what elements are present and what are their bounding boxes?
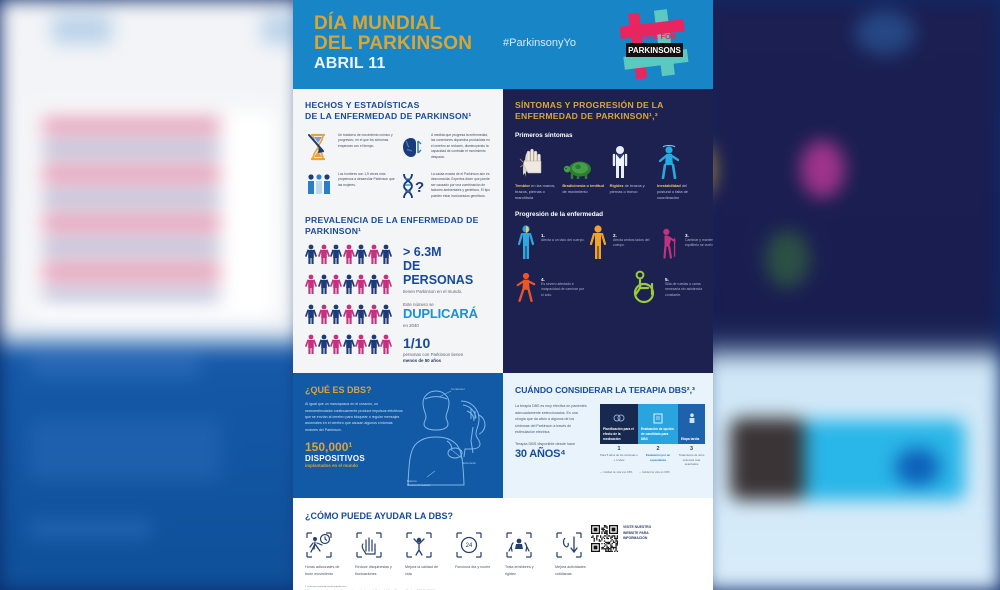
campaign-hashtag: #ParkinsonyYo (503, 37, 576, 49)
symptoms-section: SÍNTOMAS Y PROGRESIÓN DE LA ENFERMEDAD D… (503, 89, 713, 314)
person-pictogram (343, 304, 355, 324)
funnel-block-3: Etapa tardía (678, 404, 705, 444)
funnel-legend: — Calidad de vida tras DBS -- Calidad de… (600, 471, 705, 474)
stage-figure-4 (515, 268, 537, 304)
benefit-item: Horas adicionales de buen movimiento (305, 531, 345, 576)
bg-device-dot (895, 448, 940, 486)
prevalence-stats: > 6.3M DE PERSONAS tienen Parkinson en e… (403, 244, 491, 363)
benefit-label: Trata temblores y rigidez (505, 564, 545, 576)
funnel-step-3: 3 Tratamiento de otros síntomas más avan… (678, 446, 705, 466)
symptom-label: Rigidez de brazos y piernas o tronco (610, 183, 654, 195)
unstable-person-icon (657, 145, 701, 179)
clipboard-icon (653, 413, 663, 425)
title-line-1: DÍA MUNDIAL (314, 14, 472, 34)
dbs-illustration: Conductor Extensión Batería Neuroestimul… (387, 387, 499, 492)
people-icon (305, 170, 333, 202)
bg-chip (52, 14, 112, 44)
hourglass-icon (305, 131, 333, 163)
stage-figure-3 (659, 224, 681, 260)
facts-section: HECHOS Y ESTADÍSTICAS DE LA ENFERMEDAD D… (293, 89, 503, 213)
dna-icon: ? (398, 170, 426, 202)
person-pictogram (343, 274, 355, 294)
fact-text: A medida que progresa la enfermedad, las… (431, 131, 491, 163)
stat-double-value: DUPLICARÁ (403, 307, 491, 321)
early-symptoms-row: Temblor en las manos, brazos, piernas o … (515, 145, 701, 201)
fact-item: Un trastorno de movimiento crónico y pro… (305, 131, 398, 163)
content-band-dbs: ¿QUÉ ES DBS? Al igual que un marcapasos … (293, 373, 713, 498)
dbs-therapy-section: CUÁNDO CONSIDERAR LA TERAPIA DBS²,³ La t… (503, 373, 713, 498)
benefits-heading: ¿CÓMO PUEDE AYUDAR LA DBS? (305, 511, 701, 521)
person-pictogram (355, 304, 367, 324)
fact-text: Los hombres son 1,5 veces más propensos … (338, 170, 398, 202)
bg-bar-2 (30, 420, 220, 480)
legend-item-1: — Calidad de vida tras DBS (600, 471, 632, 474)
svg-text:Extensión: Extensión (463, 461, 477, 465)
bg-device-dark (730, 418, 805, 500)
person-pictogram (305, 244, 317, 264)
progression-title: Progresión de la enfermedad (515, 211, 701, 218)
infographic-poster: DÍA MUNDIAL DEL PARKINSON ABRIL 11 #Park… (293, 0, 713, 590)
symptoms-heading: SÍNTOMAS Y PROGRESIÓN DE LA ENFERMEDAD D… (515, 100, 701, 122)
title-line-2: DEL PARKINSON (314, 34, 472, 54)
symptom-label: Inestabilidad del postural o falta de co… (657, 183, 701, 201)
bg-blob-blue (855, 10, 915, 55)
stage-text: 2. Afecta ambos lados del cuerpo. (613, 224, 659, 260)
qr-code-icon[interactable] (591, 525, 618, 552)
stiff-person-icon (610, 145, 654, 179)
stat-double-note: en 2040 (403, 322, 491, 329)
progression-row-1: 1. Afecta a un lado del cuerpo. (515, 224, 701, 260)
clock-24-icon: 24 (455, 531, 483, 559)
symptom-label: Bradicinesia o lentitud de movimiento (562, 183, 606, 195)
person-pictogram (318, 244, 330, 264)
stat-ratio-value: 1/10 (403, 336, 491, 351)
person-pictogram (380, 244, 392, 264)
prevalence-heading: PREVALENCIA DE LA ENFERMEDAD DE PARKINSO… (305, 215, 491, 237)
bg-bar-3 (30, 520, 150, 538)
prevalence-pictogram-grid (305, 244, 393, 363)
arrow-down-icon (555, 531, 583, 559)
person-pictogram (380, 274, 392, 294)
person-pictogram (318, 334, 330, 354)
facts-column: HECHOS Y ESTADÍSTICAS DE LA ENFERMEDAD D… (293, 89, 503, 373)
hand-icon (355, 531, 383, 559)
benefits-section: ¿CÓMO PUEDE AYUDAR LA DBS? Horas adicion… (293, 498, 713, 590)
footnotes: 1. parkinson.org/understanding-parkinson… (305, 585, 478, 590)
pill-icon (613, 413, 625, 424)
person-pictogram (368, 334, 380, 354)
content-band-top: HECHOS Y ESTADÍSTICAS DE LA ENFERMEDAD D… (293, 89, 713, 373)
benefit-label: Mejora la calidad de vida (405, 564, 445, 576)
stage-text: 1. Afecta a un lado del cuerpo. (541, 224, 587, 260)
walking-clock-icon (305, 531, 333, 559)
stage-text: 4. Es severo afectado e incapacidad de c… (541, 268, 587, 304)
stage-item: 3. Caminar y mantener el equilibrio se v… (659, 224, 713, 260)
funnel-blocks: Planificación para el efecto de la medic… (600, 404, 705, 444)
person-pictogram (343, 244, 355, 264)
legend-item-2: -- Calidad de vida sin DBS (639, 471, 669, 474)
person-pictogram (355, 274, 367, 294)
benefit-label: Horas adicionales de buen movimiento (305, 564, 345, 576)
badge-top-text: #UNITE FOR (632, 32, 677, 41)
therapy-funnel: Planificación para el efecto de la medic… (600, 404, 705, 474)
stat-people-count: > 6.3M (403, 245, 491, 259)
turtle-icon (562, 145, 606, 179)
stage-item: 2. Afecta ambos lados del cuerpo. (587, 224, 659, 260)
symptom-item: Bradicinesia o lentitud de movimiento (562, 145, 606, 201)
svg-text:Neuroestimulador: Neuroestimulador (407, 483, 431, 487)
benefit-item: Mejora actividades cotidianas (555, 531, 595, 576)
person-pictogram (368, 304, 380, 324)
hands-care-icon (505, 531, 533, 559)
person-pictogram (305, 274, 317, 294)
stat-people-label: DE PERSONAS (403, 259, 491, 287)
stage-text: 5. Silla de ruedas o cama necesaria sin … (665, 268, 711, 304)
unite-for-parkinsons-badge: #UNITE FOR PARKINSONS (618, 9, 690, 79)
symptom-item: Rigidez de brazos y piernas o tronco (610, 145, 654, 201)
what-is-dbs-section: ¿QUÉ ES DBS? Al igual que un marcapasos … (293, 373, 503, 498)
background-left-panel (0, 0, 300, 590)
bg-grid (42, 118, 220, 300)
arms-up-person-icon (405, 531, 433, 559)
benefit-item: Trata temblores y rigidez (505, 531, 545, 576)
person-icon (688, 413, 696, 424)
person-pictogram (305, 304, 317, 324)
svg-text:Conductor: Conductor (451, 387, 465, 391)
person-pictogram (368, 244, 380, 264)
qr-block[interactable]: VISITE NUESTRO WEBSITE PARA INFORMACIÓN (591, 525, 661, 552)
stat-ratio-note: personas con Parkinson tienen (403, 351, 491, 358)
background-right-panel (705, 0, 1000, 590)
facts-grid: Un trastorno de movimiento crónico y pro… (305, 131, 491, 209)
person-pictogram (330, 304, 342, 324)
fact-item: A medida que progresa la enfermedad, las… (398, 131, 491, 163)
poster-header: DÍA MUNDIAL DEL PARKINSON ABRIL 11 #Park… (293, 0, 713, 89)
stat-people-note: tienen Parkinson en el mundo. (403, 288, 491, 295)
trembling-hand-icon (515, 145, 559, 179)
funnel-block-1: Planificación para el efecto de la medic… (600, 404, 638, 444)
funnel-step-2: 2 Evaluación por un especialista (638, 446, 678, 466)
funnel-numbers: 1 Para 5 años de los síntomas o + 4 años… (600, 446, 705, 466)
fact-item: Los hombres son 1,5 veces más propensos … (305, 170, 398, 202)
svg-text:?: ? (415, 179, 424, 196)
prevalence-body: > 6.3M DE PERSONAS tienen Parkinson en e… (305, 244, 491, 363)
symptom-item: Temblor en las manos, brazos, piernas o … (515, 145, 559, 201)
person-pictogram (343, 334, 355, 354)
benefit-label: Mejora actividades cotidianas (555, 564, 595, 576)
bg-blob-pink (800, 140, 845, 198)
benefit-item: Mejora la calidad de vida (405, 531, 445, 576)
therapy-heading: CUÁNDO CONSIDERAR LA TERAPIA DBS²,³ (515, 385, 701, 395)
stage-figure-5 (629, 268, 661, 304)
benefit-label: Funciona día y noche (455, 564, 495, 570)
benefit-item: 24 Funciona día y noche (455, 531, 495, 576)
badge-bottom-text: PARKINSONS (628, 46, 681, 55)
therapy-paragraph: La terapia DBS es muy efectiva en pacien… (515, 403, 587, 435)
benefit-item: Reduce disquinesias y fluctuaciones (355, 531, 395, 576)
symptoms-column: SÍNTOMAS Y PROGRESIÓN DE LA ENFERMEDAD D… (503, 89, 713, 373)
fact-text: La causa exacta de el Parkinson aún es d… (431, 170, 491, 202)
stage-item: 1. Afecta a un lado del cuerpo. (515, 224, 587, 260)
person-pictogram (318, 304, 330, 324)
poster-title: DÍA MUNDIAL DEL PARKINSON ABRIL 11 (314, 14, 472, 72)
person-pictogram (318, 274, 330, 294)
bg-blob-green (765, 230, 810, 288)
person-pictogram (380, 334, 392, 354)
early-symptoms-title: Primeros síntomas (515, 132, 701, 139)
person-pictogram (330, 274, 342, 294)
stage-figure-2 (587, 224, 609, 260)
brain-icon (398, 131, 426, 163)
fact-text: Un trastorno de movimiento crónico y pro… (338, 131, 398, 163)
prevalence-section: PREVALENCIA DE LA ENFERMEDAD DE PARKINSO… (293, 213, 503, 373)
stage-item: 5. Silla de ruedas o cama necesaria sin … (629, 268, 711, 304)
svg-text:24: 24 (466, 543, 473, 549)
fact-item: ? La causa exacta de el Parkinson aún es… (398, 170, 491, 202)
progression-row-2: 4. Es severo afectado e incapacidad de c… (515, 268, 701, 304)
benefit-label: Reduce disquinesias y fluctuaciones (355, 564, 395, 576)
bg-bar-1 (30, 355, 200, 377)
facts-heading: HECHOS Y ESTADÍSTICAS DE LA ENFERMEDAD D… (305, 100, 491, 122)
stage-text: 3. Caminar y mantener el equilibrio se v… (685, 224, 713, 260)
person-pictogram (355, 334, 367, 354)
person-pictogram (330, 334, 342, 354)
person-pictogram (368, 274, 380, 294)
person-pictogram (355, 244, 367, 264)
funnel-block-2: Evaluación de opción de candidato para D… (638, 404, 678, 444)
person-pictogram (330, 244, 342, 264)
stat-ratio-note-bold: menos de 50 años (403, 358, 491, 363)
stage-item: 4. Es severo afectado e incapacidad de c… (515, 268, 587, 304)
person-pictogram (380, 304, 392, 324)
qr-caption: VISITE NUESTRO WEBSITE PARA INFORMACIÓN (623, 525, 661, 541)
symptom-item: Inestabilidad del postural o falta de co… (657, 145, 701, 201)
funnel-step-1: 1 Para 5 años de los síntomas o + 4 años (600, 446, 638, 466)
stage-figure-1 (515, 224, 537, 260)
symptom-label: Temblor en las manos, brazos, piernas o … (515, 183, 559, 201)
title-line-3: ABRIL 11 (314, 55, 472, 72)
person-pictogram (305, 334, 317, 354)
